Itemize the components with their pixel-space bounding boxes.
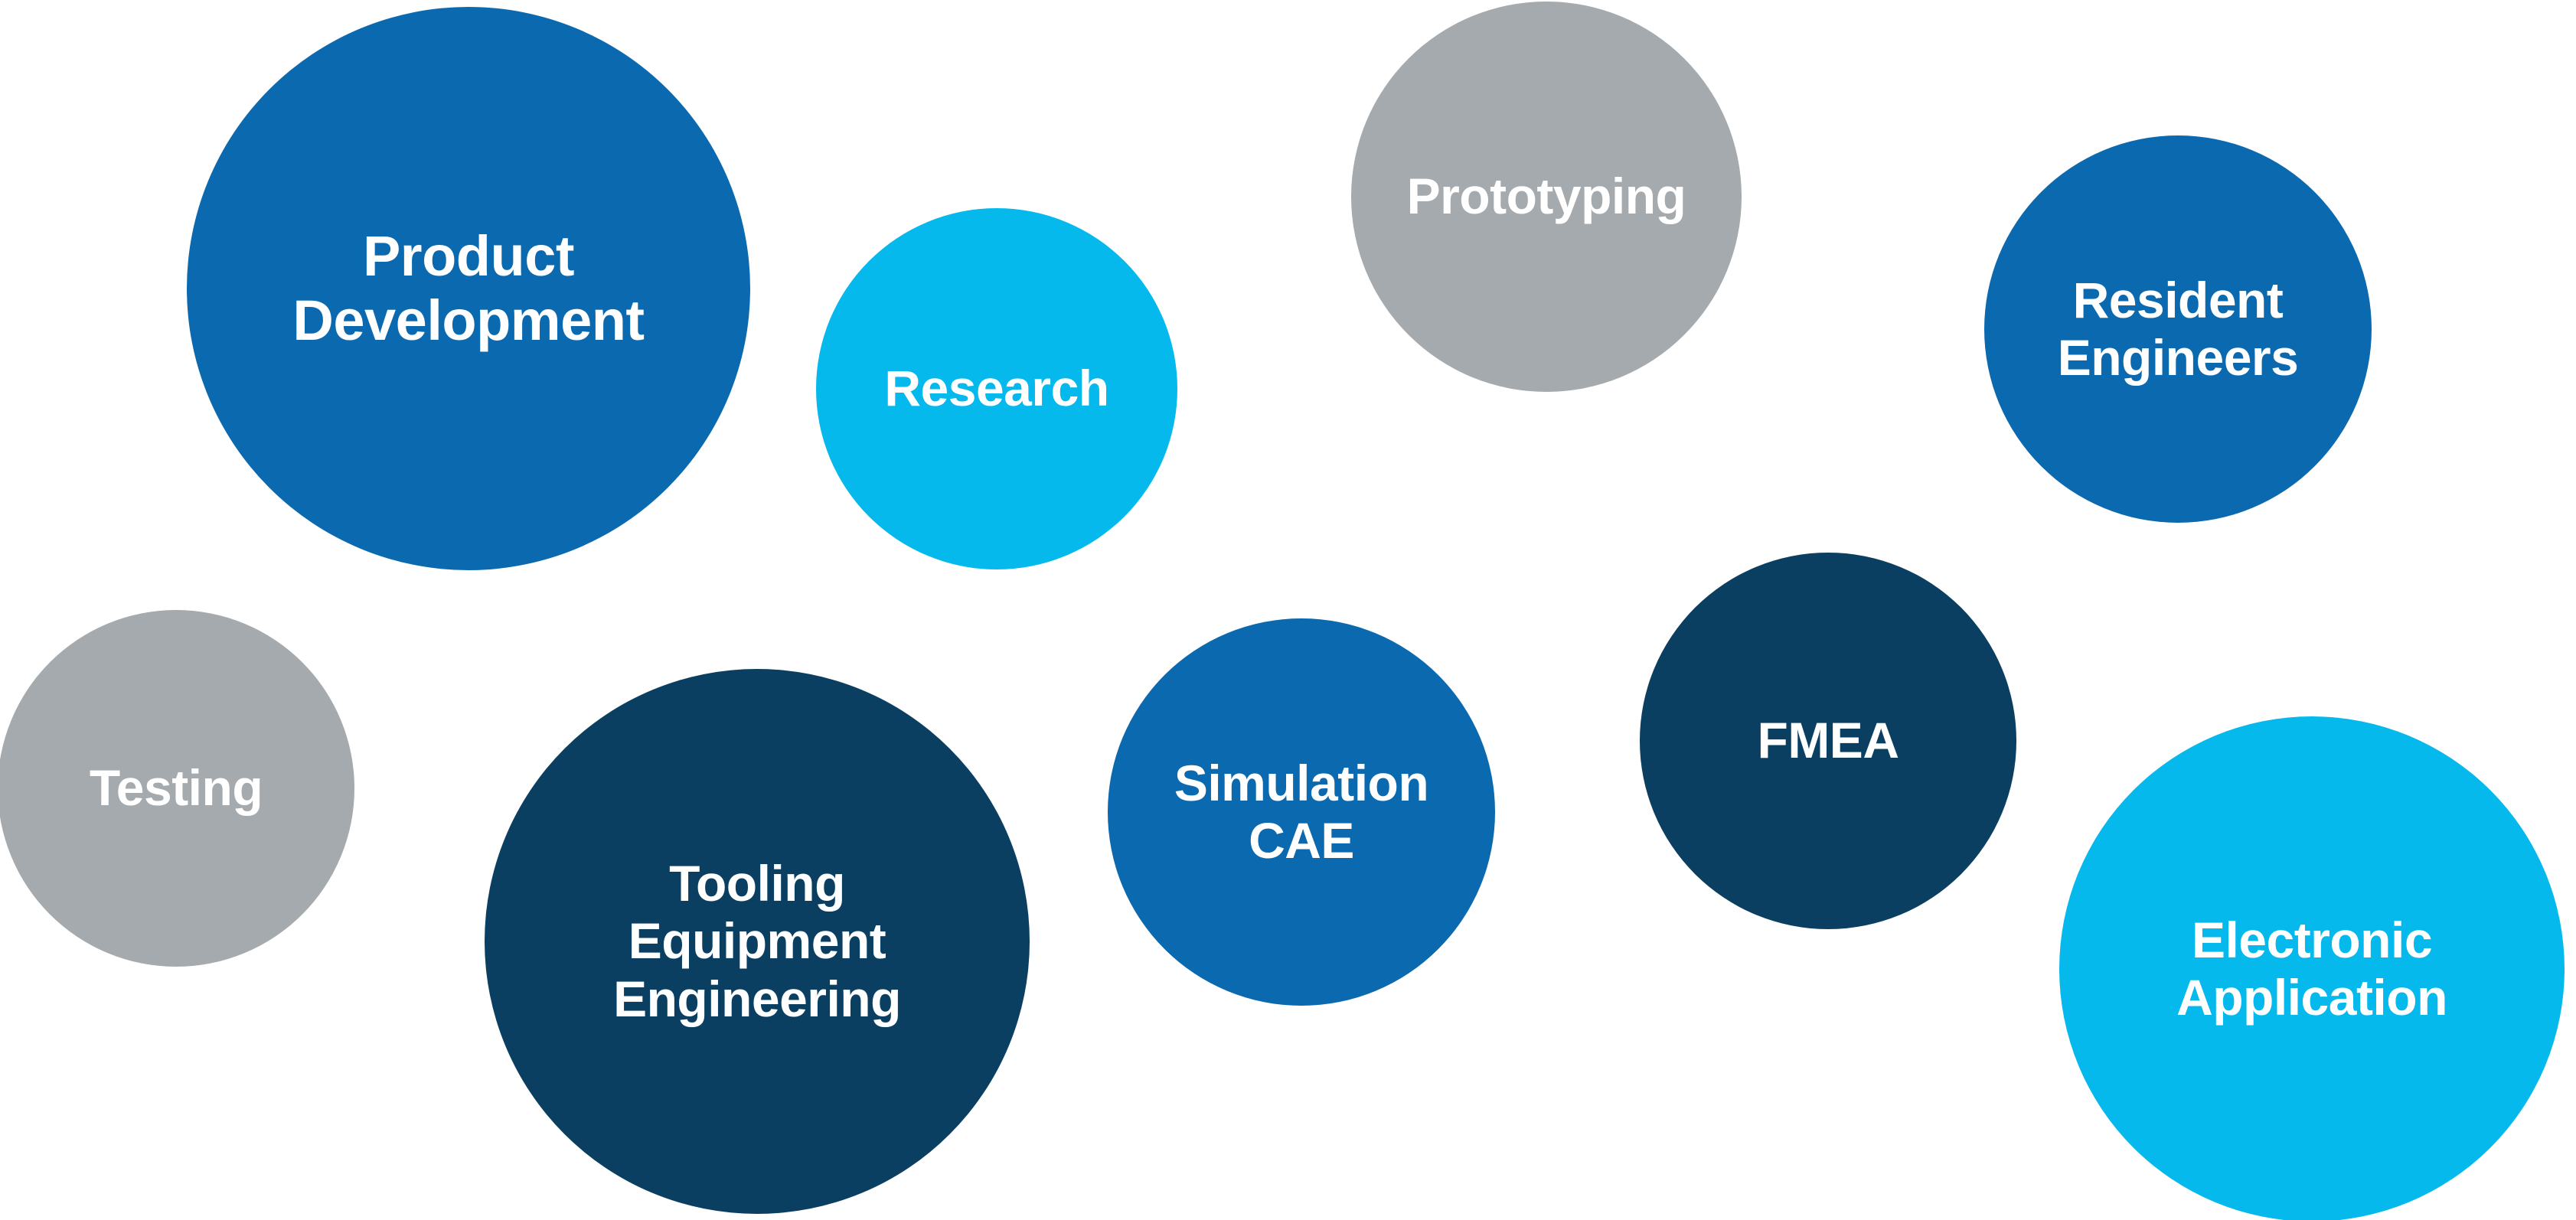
- bubble-testing[interactable]: Testing: [0, 610, 354, 967]
- bubble-resident-engineers[interactable]: Resident Engineers: [1984, 135, 2372, 523]
- bubble-label-product-development: Product Development: [289, 224, 647, 354]
- bubble-tooling-equipment-engineering[interactable]: Tooling Equipment Engineering: [485, 669, 1030, 1214]
- bubble-fmea[interactable]: FMEA: [1640, 553, 2016, 929]
- bubble-diagram-canvas: Product DevelopmentResearchPrototypingRe…: [0, 0, 2576, 1220]
- bubble-label-prototyping: Prototyping: [1404, 168, 1690, 225]
- bubble-label-resident-engineers: Resident Engineers: [2055, 272, 2302, 387]
- bubble-electronic-application[interactable]: Electronic Application: [2059, 716, 2565, 1220]
- bubble-label-testing: Testing: [87, 759, 266, 817]
- bubble-simulation-cae[interactable]: Simulation CAE: [1108, 618, 1495, 1006]
- bubble-label-research: Research: [881, 360, 1112, 417]
- bubble-prototyping[interactable]: Prototyping: [1351, 2, 1742, 392]
- bubble-label-tooling-equipment-engineering: Tooling Equipment Engineering: [610, 855, 904, 1028]
- bubble-research[interactable]: Research: [816, 208, 1177, 569]
- bubble-product-development[interactable]: Product Development: [187, 7, 750, 570]
- bubble-label-electronic-application: Electronic Application: [2173, 912, 2450, 1026]
- bubble-label-fmea: FMEA: [1755, 712, 1902, 769]
- bubble-label-simulation-cae: Simulation CAE: [1171, 755, 1432, 869]
